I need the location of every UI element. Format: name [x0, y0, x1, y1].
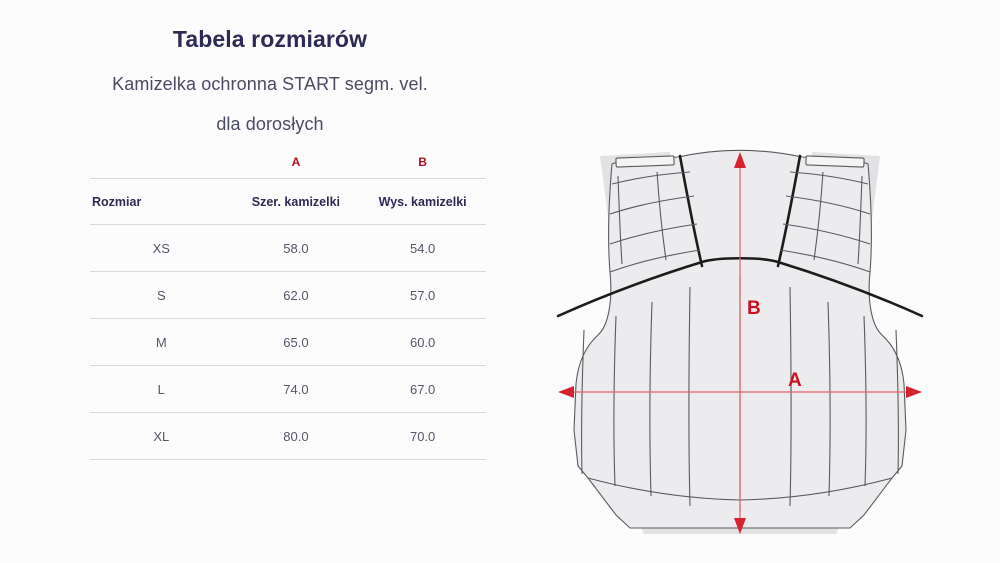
- product-subtitle-line-1: Kamizelka ochronna START segm. vel.: [0, 74, 540, 95]
- cell-size: S: [90, 272, 233, 319]
- vest-diagram: B A: [520, 130, 960, 550]
- table-row: XL 80.0 70.0: [90, 413, 486, 460]
- cell-width: 65.0: [233, 319, 360, 366]
- dimension-letter-a: A: [233, 155, 360, 179]
- cell-height: 60.0: [359, 319, 486, 366]
- table-row: XS 58.0 54.0: [90, 225, 486, 272]
- column-header-vest-width: Szer. kamizelki: [233, 179, 360, 225]
- dimension-letter-b: B: [359, 155, 486, 179]
- diagram-label-b: B: [747, 298, 761, 319]
- cell-size: XS: [90, 225, 233, 272]
- size-table: A B Rozmiar Szer. kamizelki Wys. kamizel…: [90, 155, 486, 460]
- cell-size: M: [90, 319, 233, 366]
- column-header-vest-height: Wys. kamizelki: [359, 179, 486, 225]
- dimension-letter-row: A B: [90, 155, 486, 179]
- size-table-body: XS 58.0 54.0 S 62.0 57.0 M 65.0 60.0 L 7…: [90, 225, 486, 460]
- cell-width: 58.0: [233, 225, 360, 272]
- cell-height: 57.0: [359, 272, 486, 319]
- cell-height: 54.0: [359, 225, 486, 272]
- table-row: M 65.0 60.0: [90, 319, 486, 366]
- cell-size: L: [90, 366, 233, 413]
- cell-height: 70.0: [359, 413, 486, 460]
- cell-width: 80.0: [233, 413, 360, 460]
- size-table-container: A B Rozmiar Szer. kamizelki Wys. kamizel…: [90, 155, 486, 460]
- product-subtitle-line-2: dla dorosłych: [0, 114, 540, 135]
- cell-width: 62.0: [233, 272, 360, 319]
- cell-height: 67.0: [359, 366, 486, 413]
- table-row: S 62.0 57.0: [90, 272, 486, 319]
- dimension-letter-blank: [90, 155, 233, 179]
- cell-size: XL: [90, 413, 233, 460]
- cell-width: 74.0: [233, 366, 360, 413]
- table-header-row: Rozmiar Szer. kamizelki Wys. kamizelki: [90, 179, 486, 225]
- column-header-size: Rozmiar: [90, 179, 233, 225]
- page-title: Tabela rozmiarów: [0, 26, 540, 53]
- table-row: L 74.0 67.0: [90, 366, 486, 413]
- diagram-label-a: A: [788, 370, 802, 391]
